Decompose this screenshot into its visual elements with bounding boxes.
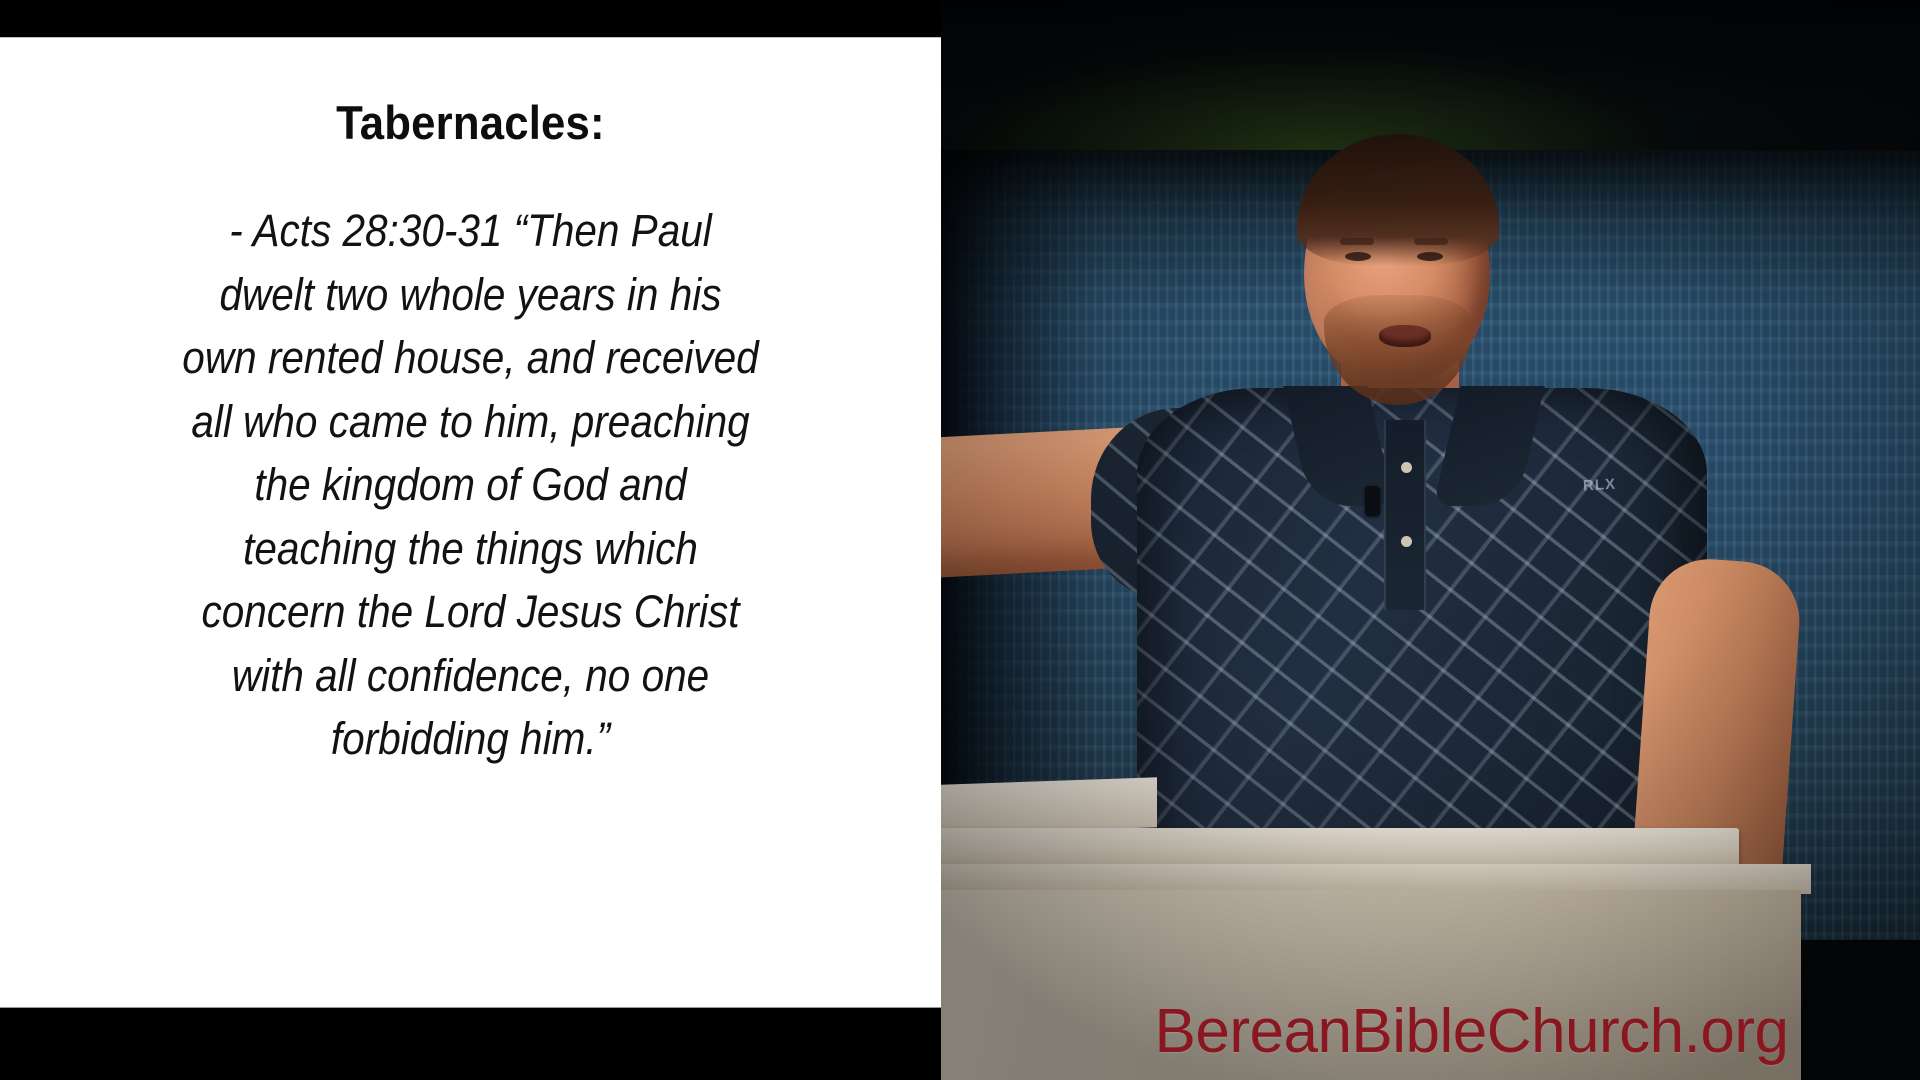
scripture-line: forbidding him.”: [63, 707, 878, 771]
slide-scripture-body: - Acts 28:30-31 “Then Paul dwelt two who…: [63, 199, 878, 771]
presentation-slide-panel: Tabernacles: - Acts 28:30-31 “Then Paul …: [0, 37, 941, 1008]
letterbox-bar-bottom: [0, 1008, 941, 1080]
video-feed-panel: RLX BereanBibleChurch.org: [941, 0, 1920, 1080]
scripture-line: with all confidence, no one: [63, 644, 878, 708]
scripture-line: teaching the things which: [63, 517, 878, 581]
shirt-button: [1401, 462, 1412, 473]
mouth: [1379, 325, 1431, 347]
scripture-line: - Acts 28:30-31 “Then Paul: [63, 199, 878, 263]
lapel-microphone-icon: [1365, 486, 1380, 516]
scripture-line: dwelt two whole years in his: [63, 263, 878, 327]
slide-content: Tabernacles: - Acts 28:30-31 “Then Paul …: [0, 38, 941, 1008]
shirt-button: [1401, 536, 1412, 547]
podium-body: [941, 890, 1801, 1080]
eye-right: [1417, 252, 1443, 261]
eye-left: [1345, 252, 1371, 261]
eyebrow-left: [1340, 238, 1374, 245]
scripture-line: the kingdom of God and: [63, 453, 878, 517]
letterbox-bar-top: [0, 0, 941, 37]
eyebrow-right: [1414, 238, 1448, 245]
slide-title: Tabernacles:: [336, 98, 605, 147]
shirt-placket: [1384, 420, 1426, 610]
scripture-line: own rented house, and received: [63, 326, 878, 390]
broadcast-stage: Tabernacles: - Acts 28:30-31 “Then Paul …: [0, 0, 1920, 1080]
scripture-line: concern the Lord Jesus Christ: [63, 580, 878, 644]
shirt-logo: RLX: [1583, 475, 1640, 496]
scripture-line: all who came to him, preaching: [63, 390, 878, 454]
hair: [1297, 134, 1499, 266]
